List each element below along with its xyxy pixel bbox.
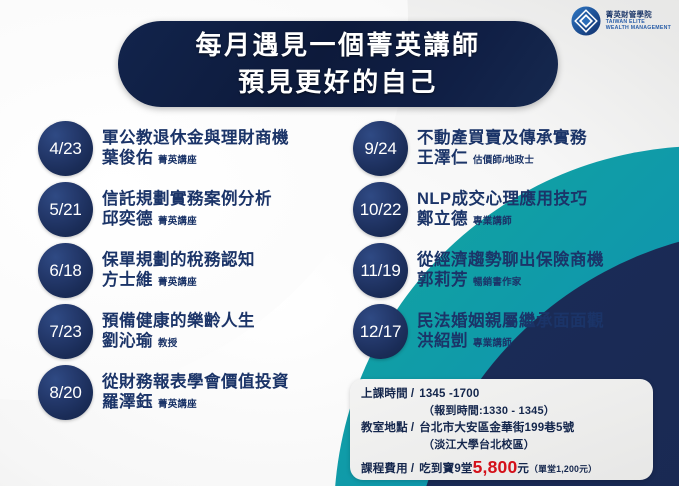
session-date-badge: 10/22 xyxy=(353,182,408,237)
info-fee-note: （單堂1,200元） xyxy=(529,463,597,476)
info-fee-prefix: 吃到寶9堂 xyxy=(419,461,472,478)
info-value-place: 台北市大安區金華街199巷5號 xyxy=(419,420,574,437)
session-item[interactable]: 9/24 不動產買賣及傳承實務 王澤仁 估價師/地政士 xyxy=(353,118,678,179)
session-date-badge: 4/23 xyxy=(38,121,93,176)
session-date: 12/17 xyxy=(360,323,402,340)
session-date: 5/21 xyxy=(49,201,81,218)
session-topic: NLP成交心理應用技巧 xyxy=(417,189,588,210)
session-speaker: 劉沁瑜 xyxy=(102,332,153,352)
title-line-2: 預見更好的自己 xyxy=(238,64,438,101)
session-date-badge: 9/24 xyxy=(353,121,408,176)
session-speaker-line: 葉俊佑 菁英講座 xyxy=(102,149,289,169)
session-details: 從財務報表學會價值投資 羅澤鈺 菁英講座 xyxy=(102,372,289,413)
session-speaker: 洪紹剴 xyxy=(417,332,468,352)
info-label-time: 上課時間 xyxy=(361,386,408,403)
info-row-place: 教室地點 / 台北市大安區金華街199巷5號 xyxy=(361,420,644,437)
info-label-fee: 課程費用 xyxy=(361,461,408,478)
session-speaker: 王澤仁 xyxy=(417,149,468,169)
session-role: 菁英講座 xyxy=(158,216,197,227)
info-label-place: 教室地點 xyxy=(361,420,408,437)
brand-name-cn: 菁英財管學院 xyxy=(606,11,671,19)
session-role: 教授 xyxy=(158,338,177,349)
session-details: 軍公教退休金與理財商機 葉俊佑 菁英講座 xyxy=(102,128,289,169)
session-details: 民法婚姻親屬繼承面面觀 洪紹剴 專業講師 xyxy=(417,311,604,352)
session-date: 6/18 xyxy=(49,262,81,279)
session-item[interactable]: 12/17 民法婚姻親屬繼承面面觀 洪紹剴 專業講師 xyxy=(353,301,678,362)
session-speaker: 羅澤鈺 xyxy=(102,393,153,413)
info-fee-amount: 5,800 xyxy=(473,454,518,481)
session-details: 從經濟趨勢聊出保險商機 郭莉芳 暢銷書作家 xyxy=(417,250,604,291)
session-item[interactable]: 6/18 保單規劃的稅務認知 方士維 菁英講座 xyxy=(38,240,339,301)
info-value-time: 1345 -1700 xyxy=(419,386,479,403)
session-speaker-line: 邱奕德 菁英講座 xyxy=(102,210,272,230)
course-info-box: 上課時間 / 1345 -1700 （報到時間:1330 - 1345） 教室地… xyxy=(350,379,653,480)
session-role: 菁英講座 xyxy=(158,277,197,288)
session-topic: 軍公教退休金與理財商機 xyxy=(102,128,289,149)
session-details: 不動產買賣及傳承實務 王澤仁 估價師/地政士 xyxy=(417,128,587,169)
session-date: 8/20 xyxy=(49,384,81,401)
session-details: 保單規劃的稅務認知 方士維 菁英講座 xyxy=(102,250,255,291)
session-date: 7/23 xyxy=(49,323,81,340)
session-role: 菁英講座 xyxy=(158,155,197,166)
diamond-emblem-icon xyxy=(571,6,601,36)
session-date-badge: 7/23 xyxy=(38,304,93,359)
session-item[interactable]: 10/22 NLP成交心理應用技巧 鄭立德 專業講師 xyxy=(353,179,678,240)
brand-logo: 菁英財管學院 TAIWAN ELITE WEALTH MANAGEMENT xyxy=(571,6,671,36)
session-details: 信託規劃實務案例分析 邱奕德 菁英講座 xyxy=(102,189,272,230)
title-line-1: 每月遇見一個菁英講師 xyxy=(195,27,480,64)
session-item[interactable]: 8/20 從財務報表學會價值投資 羅澤鈺 菁英講座 xyxy=(38,362,339,423)
session-speaker: 方士維 xyxy=(102,271,153,291)
session-speaker-line: 劉沁瑜 教授 xyxy=(102,332,255,352)
session-topic: 從經濟趨勢聊出保險商機 xyxy=(417,250,604,271)
brand-name-en2: WEALTH MANAGEMENT xyxy=(606,26,671,32)
session-details: 預備健康的樂齡人生 劉沁瑜 教授 xyxy=(102,311,255,352)
session-details: NLP成交心理應用技巧 鄭立德 專業講師 xyxy=(417,189,588,230)
session-item[interactable]: 4/23 軍公教退休金與理財商機 葉俊佑 菁英講座 xyxy=(38,118,339,179)
info-subnote-time: （報到時間:1330 - 1345） xyxy=(361,403,644,419)
session-date-badge: 6/18 xyxy=(38,243,93,298)
session-topic: 從財務報表學會價值投資 xyxy=(102,372,289,393)
info-fee-unit: 元 xyxy=(517,461,529,478)
session-role: 專業講師 xyxy=(473,338,512,349)
info-row-time: 上課時間 / 1345 -1700 xyxy=(361,386,644,403)
session-speaker-line: 方士維 菁英講座 xyxy=(102,271,255,291)
session-role: 暢銷書作家 xyxy=(473,277,522,288)
info-separator: / xyxy=(408,420,419,437)
session-speaker: 邱奕德 xyxy=(102,210,153,230)
session-date: 10/22 xyxy=(360,201,402,218)
session-role: 估價師/地政士 xyxy=(473,155,534,166)
session-topic: 保單規劃的稅務認知 xyxy=(102,250,255,271)
brand-logo-text: 菁英財管學院 TAIWAN ELITE WEALTH MANAGEMENT xyxy=(606,11,671,31)
session-speaker: 葉俊佑 xyxy=(102,149,153,169)
session-topic: 預備健康的樂齡人生 xyxy=(102,311,255,332)
session-date-badge: 12/17 xyxy=(353,304,408,359)
info-separator: / xyxy=(408,461,419,478)
sessions-columns: 4/23 軍公教退休金與理財商機 葉俊佑 菁英講座 5/21 信託規劃實務案例分… xyxy=(0,118,679,423)
session-date: 4/23 xyxy=(49,140,81,157)
session-topic: 不動產買賣及傳承實務 xyxy=(417,128,587,149)
info-row-fee: 課程費用 / 吃到寶9堂 5,800 元 （單堂1,200元） xyxy=(361,453,644,480)
session-speaker-line: 郭莉芳 暢銷書作家 xyxy=(417,271,604,291)
session-speaker: 郭莉芳 xyxy=(417,271,468,291)
info-subnote-place: （淡江大學台北校區） xyxy=(361,437,644,453)
session-item[interactable]: 5/21 信託規劃實務案例分析 邱奕德 菁英講座 xyxy=(38,179,339,240)
session-date: 9/24 xyxy=(364,140,396,157)
session-speaker-line: 鄭立德 專業講師 xyxy=(417,210,588,230)
session-item[interactable]: 11/19 從經濟趨勢聊出保險商機 郭莉芳 暢銷書作家 xyxy=(353,240,678,301)
title-banner: 每月遇見一個菁英講師 預見更好的自己 xyxy=(118,21,558,107)
session-date-badge: 11/19 xyxy=(353,243,408,298)
info-separator: / xyxy=(408,386,419,403)
session-speaker-line: 王澤仁 估價師/地政士 xyxy=(417,149,587,169)
session-speaker-line: 洪紹剴 專業講師 xyxy=(417,332,604,352)
session-role: 專業講師 xyxy=(473,216,512,227)
sessions-column-left: 4/23 軍公教退休金與理財商機 葉俊佑 菁英講座 5/21 信託規劃實務案例分… xyxy=(0,118,339,423)
session-item[interactable]: 7/23 預備健康的樂齡人生 劉沁瑜 教授 xyxy=(38,301,339,362)
session-date-badge: 5/21 xyxy=(38,182,93,237)
poster-canvas: 菁英財管學院 TAIWAN ELITE WEALTH MANAGEMENT 每月… xyxy=(0,0,679,486)
session-date: 11/19 xyxy=(360,262,400,279)
session-speaker: 鄭立德 xyxy=(417,210,468,230)
session-role: 菁英講座 xyxy=(158,399,197,410)
sessions-column-right: 9/24 不動產買賣及傳承實務 王澤仁 估價師/地政士 10/22 NLP成交心… xyxy=(339,118,678,423)
session-date-badge: 8/20 xyxy=(38,365,93,420)
session-topic: 民法婚姻親屬繼承面面觀 xyxy=(417,311,604,332)
session-speaker-line: 羅澤鈺 菁英講座 xyxy=(102,393,289,413)
session-topic: 信託規劃實務案例分析 xyxy=(102,189,272,210)
